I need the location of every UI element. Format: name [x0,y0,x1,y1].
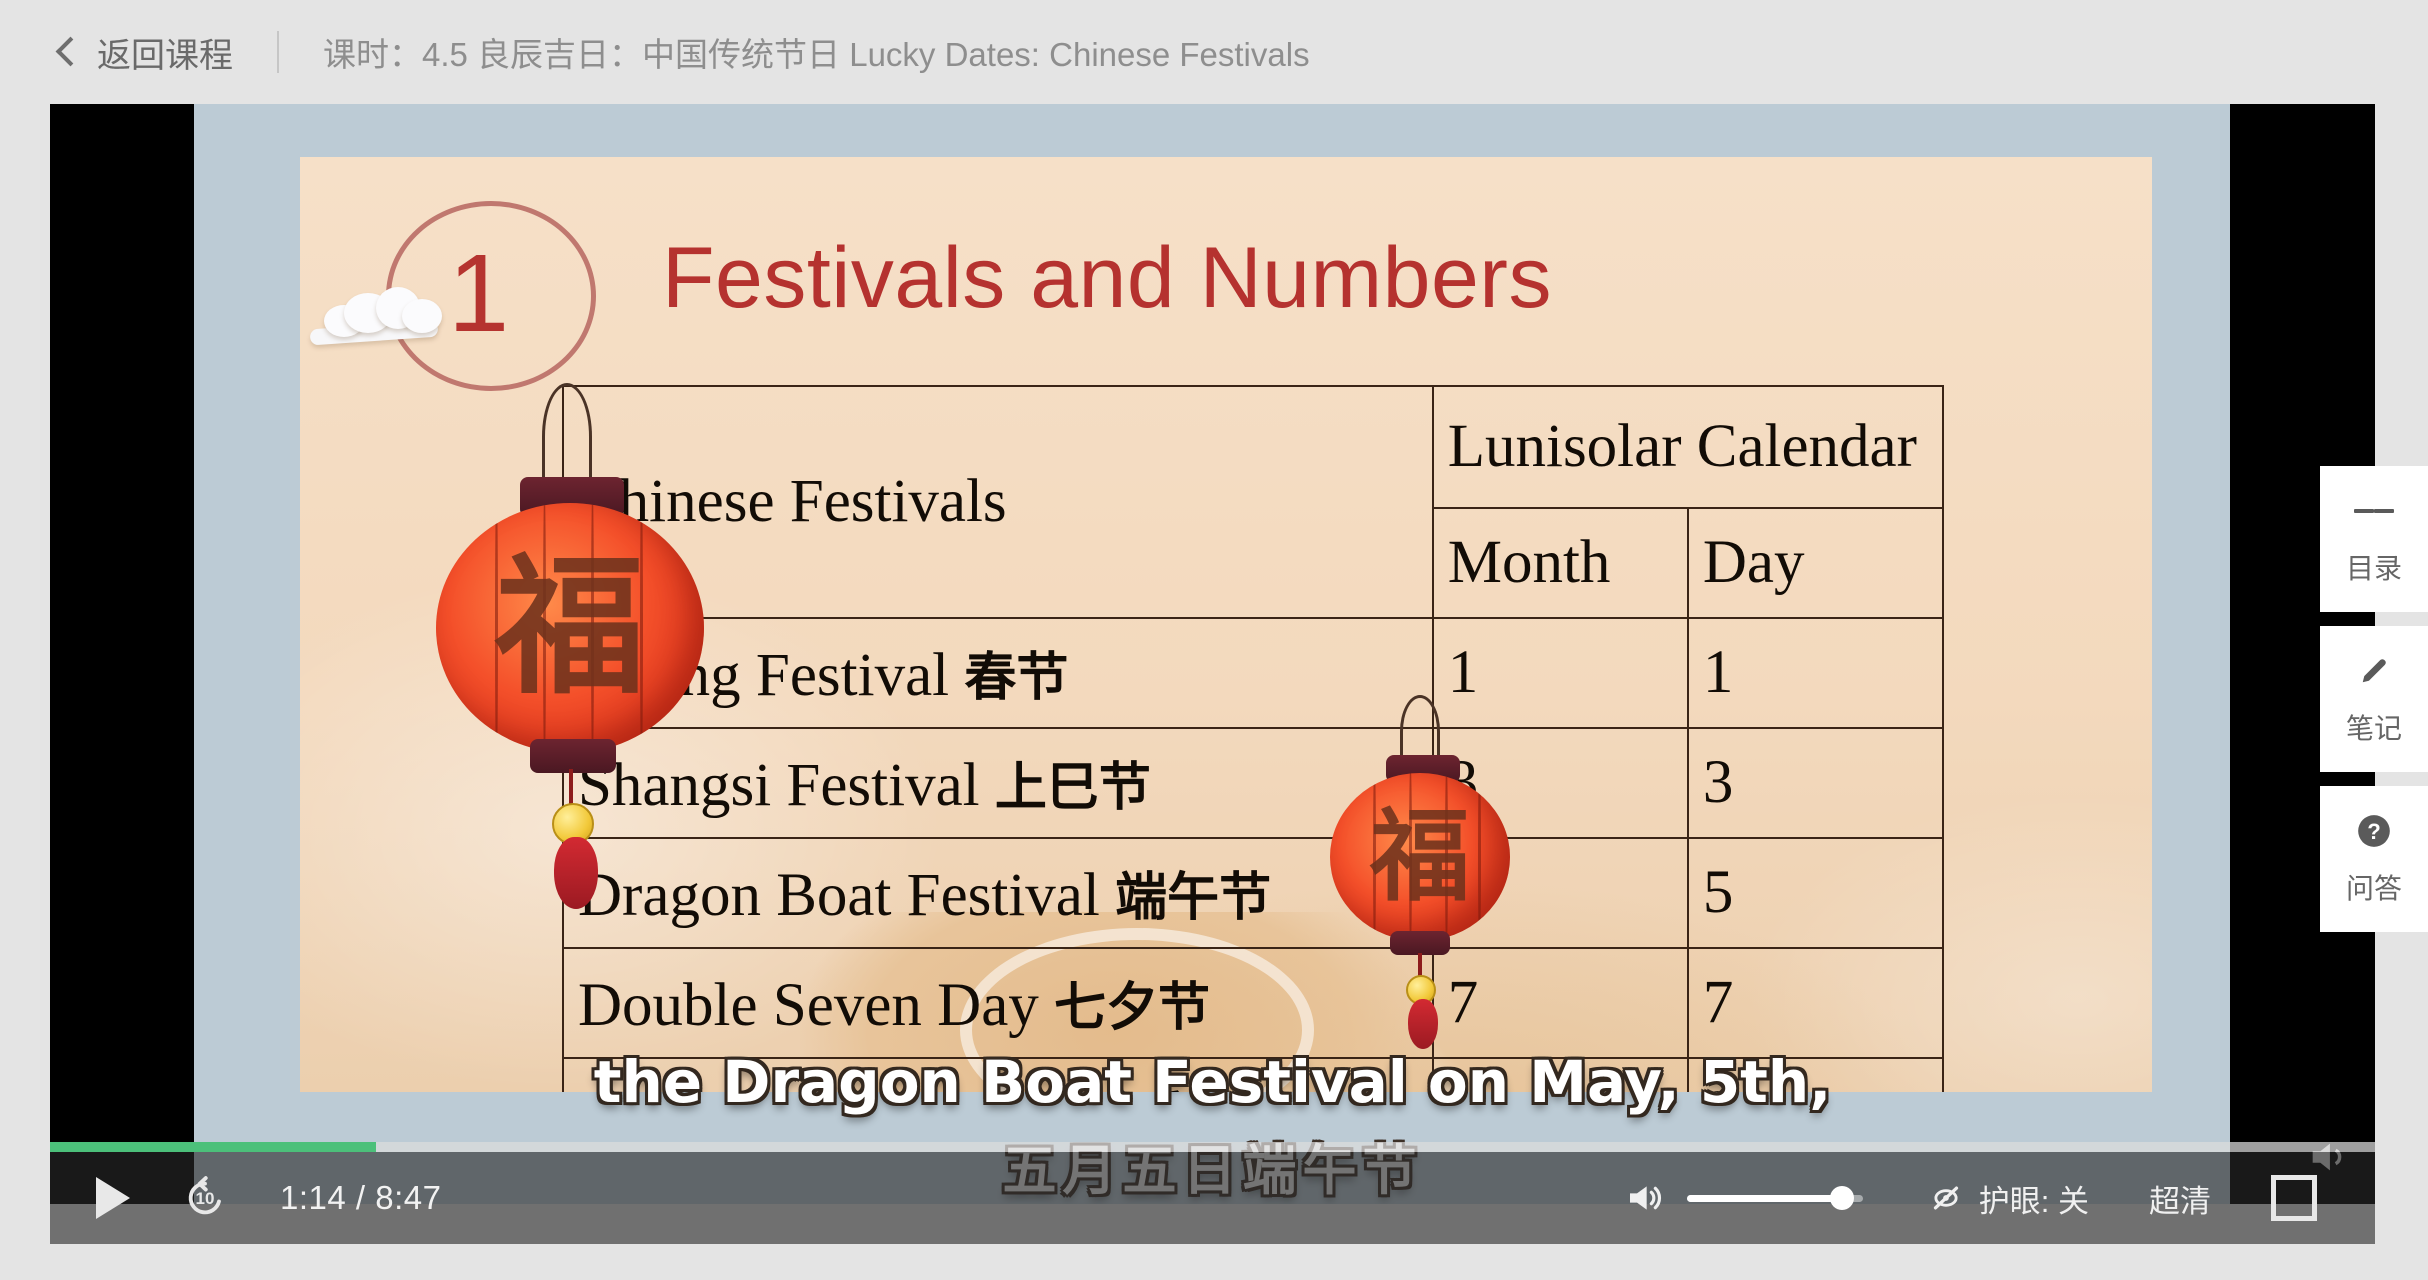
lantern-tassel [554,837,598,909]
play-icon [96,1177,130,1219]
table-row: Spring Festival 春节 1 1 [563,618,1943,728]
question-circle-icon: ? [2354,811,2394,851]
lantern-tassel [1408,999,1438,1049]
lantern-base [1390,931,1450,955]
table-header-row: Chinese Festivals Lunisolar Calendar [563,386,1943,508]
cloud-puff [402,299,442,333]
player-controls: 10 1:14 / 8:47 护眼: 关 超清 [50,1152,2375,1244]
lantern-body: 福 [436,503,704,753]
festival-name: Double Seven Day 七夕节 [563,948,1433,1058]
lantern-cord [569,769,573,807]
progress-bar[interactable] [50,1142,2375,1152]
lesson-title: 课时：4.5 良辰吉日：中国传统节日 Lucky Dates: Chinese … [323,28,1310,76]
svg-text:?: ? [2367,819,2381,844]
festival-name: Double Ninth Festival 重阳节 [563,1058,1433,1092]
course-player-page: 返回课程 课时：4.5 良辰吉日：中国传统节日 Lucky Dates: Chi… [0,0,2428,1280]
festival-day: 7 [1688,948,1943,1058]
fullscreen-icon [2271,1175,2294,1198]
fu-character: 福 [1330,807,1510,907]
festival-month: 9 [1433,1058,1688,1092]
volume-slider-fill [1687,1195,1842,1202]
back-to-course-button[interactable]: 返回课程 [60,28,233,77]
header-divider [277,31,279,73]
festival-day: 9 [1688,1058,1943,1092]
table-row: Double Ninth Festival 重阳节 9 9 [563,1058,1943,1092]
volume-slider[interactable] [1687,1195,1863,1202]
festival-day: 3 [1688,728,1943,838]
red-lantern-small-icon: 福 [1324,699,1524,1009]
progress-bar-fill [50,1142,376,1152]
pencil-icon [2354,651,2394,691]
lantern-body: 福 [1330,773,1510,941]
festival-day: 1 [1688,618,1943,728]
replay-10-button[interactable]: 10 [182,1175,228,1221]
column-header-calendar: Lunisolar Calendar [1433,386,1943,508]
presentation-slide: 1 Festivals and Numbers Chinese Festival… [300,157,2152,1092]
play-button[interactable] [96,1177,130,1219]
slide-title: Festivals and Numbers [662,229,1552,328]
sidebar-item-notes[interactable]: 笔记 [2320,626,2428,772]
fullscreen-icon [2271,1198,2294,1221]
lantern-string [542,383,592,490]
red-lantern-icon: 福 [424,443,724,903]
festival-name-zh: 重阳节 [1135,1088,1291,1092]
sidebar-item-qa[interactable]: ? 问答 [2320,786,2428,932]
cloud-decoration-icon [310,287,460,349]
festivals-table: Chinese Festivals Lunisolar Calendar Mon… [562,385,1944,1092]
fullscreen-icon [2294,1198,2317,1221]
sidebar-item-label: 目录 [2346,547,2402,587]
fu-character: 福 [436,553,704,703]
eye-care-label: 护眼: 关 [1979,1176,2089,1221]
sidebar-item-label: 问答 [2346,867,2402,907]
sidebar-item-label: 笔记 [2346,707,2402,747]
video-frame: 1 Festivals and Numbers Chinese Festival… [194,104,2230,1204]
table-row: Double Seven Day 七夕节 7 7 [563,948,1943,1058]
table-row: Dragon Boat Festival 端午节 5 5 [563,838,1943,948]
time-display: 1:14 / 8:47 [280,1179,441,1217]
side-panel-group: 目录 笔记 ? 问答 [2320,466,2428,946]
table-row: Shangsi Festival 上巳节 3 3 [563,728,1943,838]
quality-selector[interactable]: 超清 [2149,1176,2211,1221]
festival-name-zh: 七夕节 [1054,978,1210,1038]
festival-name-zh: 上巳节 [995,758,1151,818]
back-to-course-label: 返回课程 [97,28,233,77]
volume-slider-knob[interactable] [1830,1186,1854,1210]
festival-name-zh: 端午节 [1115,868,1271,928]
column-header-day: Day [1688,508,1943,618]
volume-icon[interactable] [1623,1178,1667,1218]
eye-care-toggle[interactable]: 护眼: 关 [1927,1176,2089,1221]
column-header-month: Month [1433,508,1688,618]
eye-off-icon [1927,1179,1965,1217]
sidebar-item-contents[interactable]: 目录 [2320,466,2428,612]
fullscreen-icon [2294,1175,2317,1198]
hamburger-icon [2354,491,2394,531]
replay-seconds-label: 10 [182,1189,228,1209]
chevron-left-icon [56,36,86,66]
volume-control[interactable] [1623,1178,1863,1218]
video-player[interactable]: 1 Festivals and Numbers Chinese Festival… [50,104,2375,1204]
slide-heading: 1 Festivals and Numbers [300,157,2152,357]
top-header: 返回课程 课时：4.5 良辰吉日：中国传统节日 Lucky Dates: Chi… [0,0,2428,104]
festival-name-zh: 春节 [964,648,1068,708]
fullscreen-button[interactable] [2271,1175,2317,1221]
festival-day: 5 [1688,838,1943,948]
lantern-base [530,739,616,773]
